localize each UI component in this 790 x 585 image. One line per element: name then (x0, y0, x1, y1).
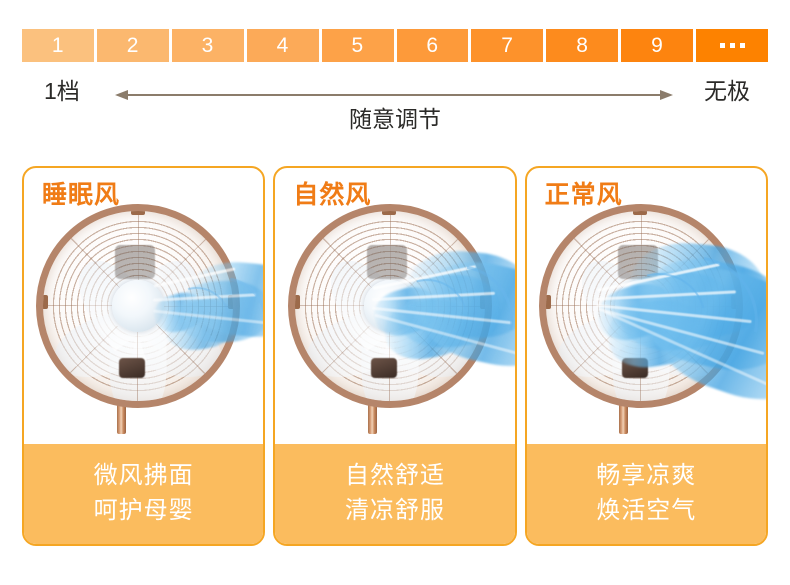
speed-cell-label: 6 (426, 35, 438, 56)
mode-card-footer-line1: 自然舒适 (275, 458, 514, 493)
fan-illustration (531, 204, 718, 404)
speed-cell-2[interactable]: 2 (97, 29, 169, 62)
mode-card-title: 自然风 (293, 178, 371, 212)
fan-knob (371, 358, 397, 378)
fan-grille-clip (480, 295, 488, 309)
fan-grille-clip (40, 295, 48, 309)
speed-cell-more[interactable] (696, 29, 768, 62)
fan-head (36, 204, 240, 408)
speed-cell-label: 7 (501, 35, 513, 56)
speed-cell-label: 9 (651, 35, 663, 56)
fan-grille-clip (292, 295, 300, 309)
mode-card-footer-line2: 呵护母婴 (24, 493, 263, 528)
speed-cell-1[interactable]: 1 (22, 29, 94, 62)
speed-cell-6[interactable]: 6 (397, 29, 469, 62)
fan-grille-clip (543, 295, 551, 309)
fan-grille-clip (731, 295, 739, 309)
fan-illustration (29, 204, 216, 404)
mode-card-footer-line2: 焕活空气 (527, 493, 766, 528)
fan-illustration (280, 204, 467, 404)
fan-motor-housing (115, 245, 155, 279)
mode-card[interactable]: 自然风自然舒适清凉舒服 (273, 166, 516, 546)
fan-grille-clip (228, 295, 236, 309)
arrow-line (127, 94, 661, 96)
fan-grille-clip (382, 207, 396, 215)
fan-head (539, 204, 743, 408)
mode-card-title: 正常风 (545, 178, 623, 212)
speed-cell-label: 3 (202, 35, 214, 56)
range-arrow (115, 90, 673, 102)
mode-card-footer-line2: 清凉舒服 (275, 493, 514, 528)
scale-max-label: 无极 (704, 76, 750, 106)
fan-hub (615, 280, 667, 332)
scale-min-label: 1档 (44, 76, 80, 106)
mode-card-footer-line1: 微风拂面 (24, 458, 263, 493)
mode-card[interactable]: 正常风畅享凉爽焕活空气 (525, 166, 768, 546)
speed-cell-5[interactable]: 5 (322, 29, 394, 62)
speed-cell-label: 5 (351, 35, 363, 56)
fan-knob (622, 358, 648, 378)
arrow-right-icon (660, 90, 673, 100)
speed-cell-8[interactable]: 8 (546, 29, 618, 62)
mode-card-list: 睡眠风微风拂面呵护母婴自然风自然舒适清凉舒服正常风畅享凉爽焕活空气 (22, 166, 768, 546)
speed-cell-3[interactable]: 3 (172, 29, 244, 62)
speed-cell-label: 8 (576, 35, 588, 56)
mode-card-footer: 自然舒适清凉舒服 (275, 444, 514, 544)
more-dots-icon (720, 43, 745, 48)
fan-knob (119, 358, 145, 378)
fan-hub (112, 280, 164, 332)
fan-grille-clip (633, 207, 647, 215)
mode-card-footer-line1: 畅享凉爽 (527, 458, 766, 493)
fan-grille-clip (131, 207, 145, 215)
fan-hub (364, 280, 416, 332)
fan-speed-scale[interactable]: 123456789 (22, 29, 768, 62)
mode-card[interactable]: 睡眠风微风拂面呵护母婴 (22, 166, 265, 546)
speed-cell-4[interactable]: 4 (247, 29, 319, 62)
mode-card-footer: 畅享凉爽焕活空气 (527, 444, 766, 544)
speed-cell-label: 4 (277, 35, 289, 56)
mode-card-title: 睡眠风 (42, 178, 120, 212)
speed-cell-label: 2 (127, 35, 139, 56)
scale-caption: 随意调节 (0, 104, 790, 134)
speed-cell-7[interactable]: 7 (471, 29, 543, 62)
mode-card-footer: 微风拂面呵护母婴 (24, 444, 263, 544)
fan-motor-housing (618, 245, 658, 279)
speed-cell-9[interactable]: 9 (621, 29, 693, 62)
speed-cell-label: 1 (52, 35, 64, 56)
fan-head (288, 204, 492, 408)
fan-motor-housing (367, 245, 407, 279)
